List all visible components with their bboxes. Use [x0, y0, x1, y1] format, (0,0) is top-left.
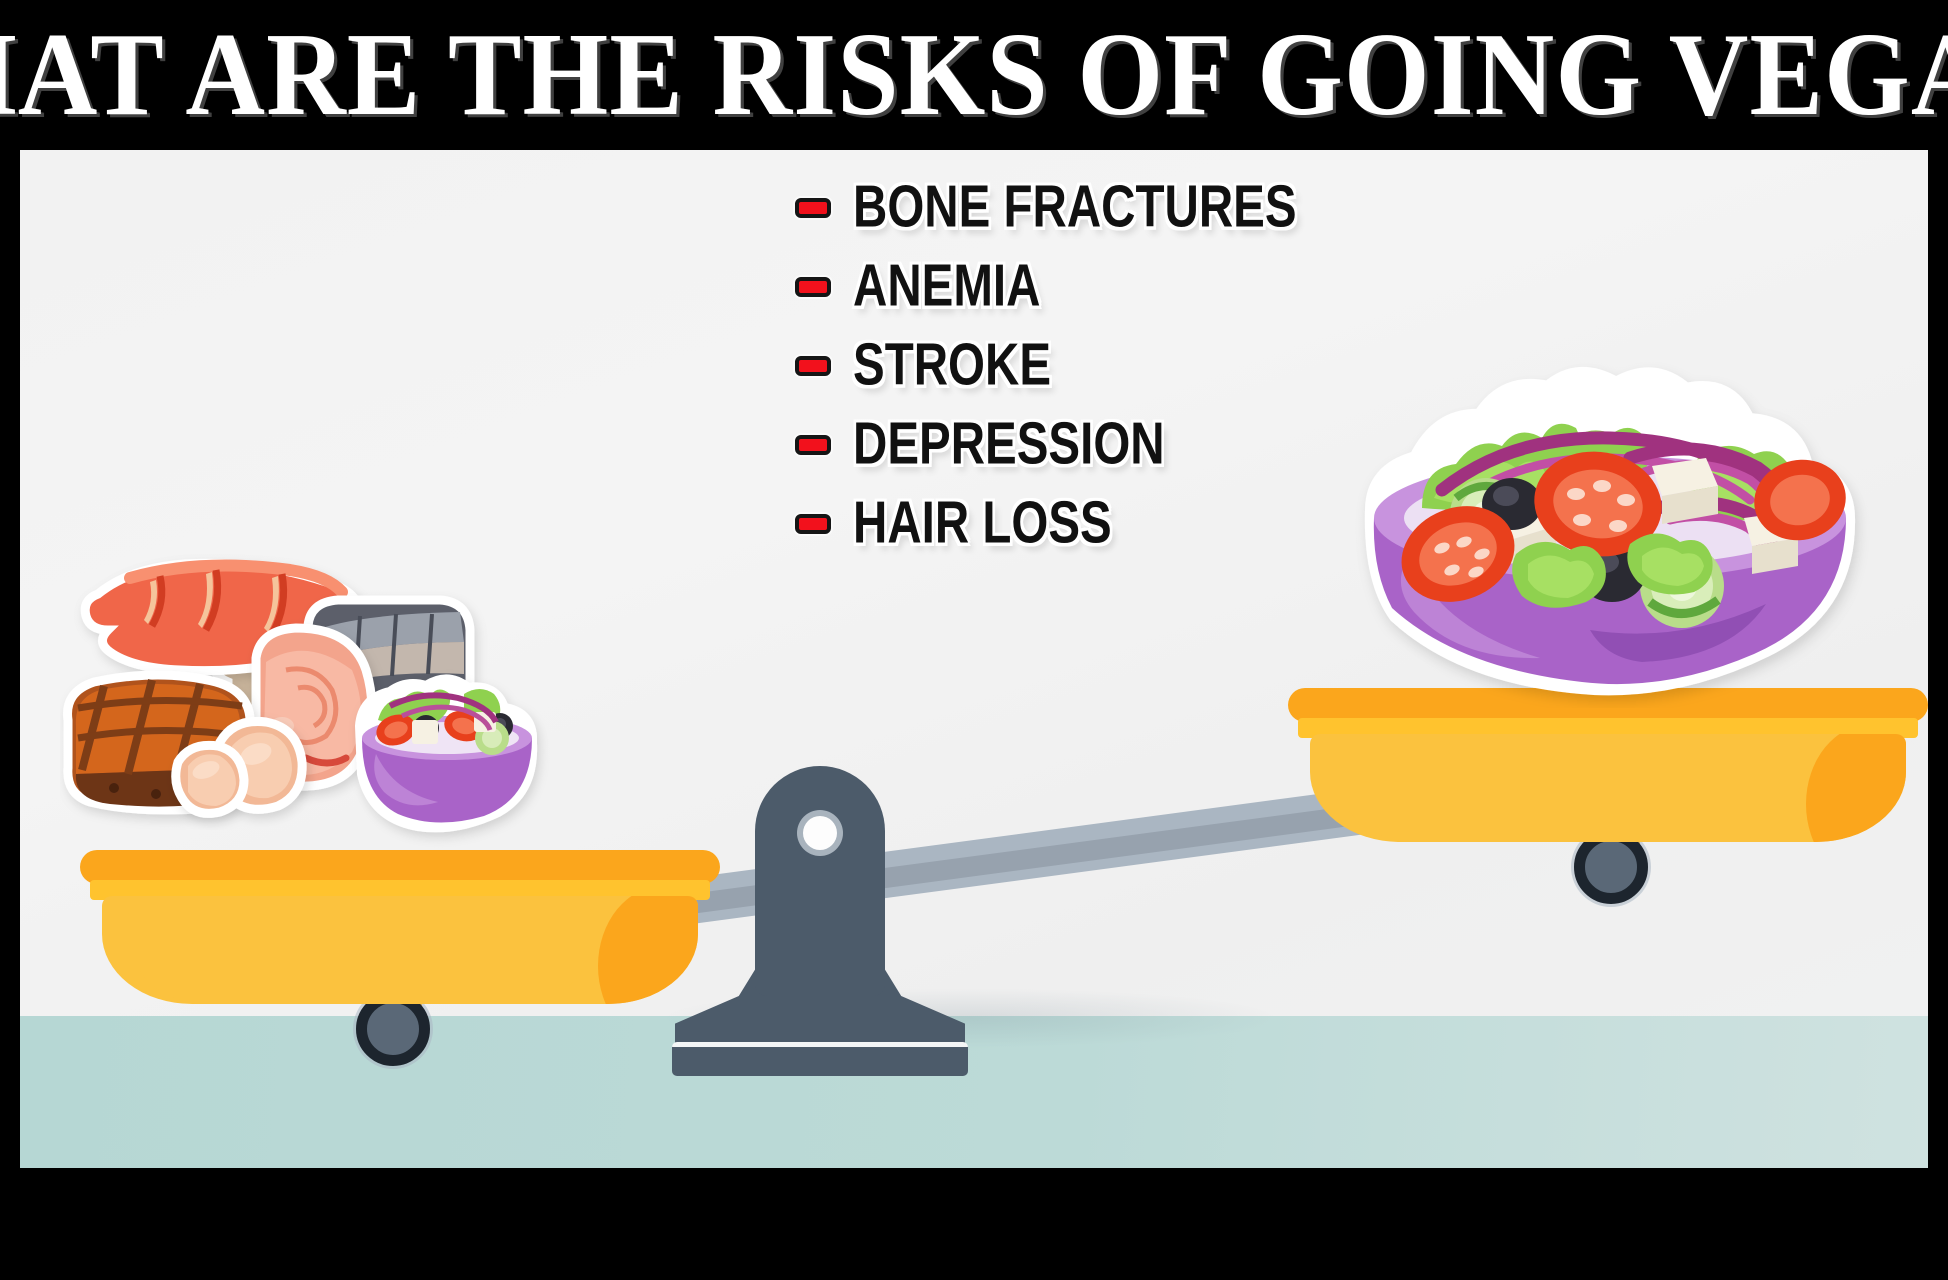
pivot-hole	[803, 816, 837, 850]
left-pan-tray	[80, 850, 720, 1010]
red-dash-bullet-icon	[795, 356, 831, 376]
list-item: STROKE	[795, 338, 1357, 393]
risk-label: HAIR LOSS	[853, 494, 1112, 555]
left-pan-body	[102, 896, 698, 1004]
right-pan-tray	[1288, 688, 1928, 848]
large-salad-bowl-icon	[1372, 374, 1853, 688]
illustration-canvas: BONE FRACTURES ANEMIA STROKE DEPRESSION …	[20, 150, 1928, 1168]
red-dash-bullet-icon	[795, 514, 831, 534]
infographic-root: WHAT ARE THE RISKS OF GOING VEGAN?	[0, 0, 1948, 1280]
meat-food-group	[60, 530, 620, 870]
scale-base-plinth	[672, 1042, 968, 1076]
small-salad-bowl-icon	[360, 679, 532, 827]
right-pan-body	[1310, 734, 1906, 842]
risk-label: ANEMIA	[853, 256, 1040, 317]
list-item: BONE FRACTURES	[795, 180, 1357, 235]
page-title: WHAT ARE THE RISKS OF GOING VEGAN?	[0, 16, 1948, 135]
red-dash-bullet-icon	[795, 198, 831, 218]
red-dash-bullet-icon	[795, 435, 831, 455]
risk-list: BONE FRACTURES ANEMIA STROKE DEPRESSION …	[795, 180, 1357, 551]
risk-label: BONE FRACTURES	[853, 177, 1297, 238]
vegan-salad-group	[1330, 358, 1890, 708]
title-banner: WHAT ARE THE RISKS OF GOING VEGAN?	[0, 0, 1948, 150]
risk-label: STROKE	[853, 335, 1051, 396]
risk-label: DEPRESSION	[853, 414, 1165, 475]
list-item: DEPRESSION	[795, 417, 1357, 472]
scale-pivot-column	[755, 766, 885, 996]
list-item: ANEMIA	[795, 259, 1357, 314]
list-item: HAIR LOSS	[795, 496, 1357, 551]
red-dash-bullet-icon	[795, 277, 831, 297]
